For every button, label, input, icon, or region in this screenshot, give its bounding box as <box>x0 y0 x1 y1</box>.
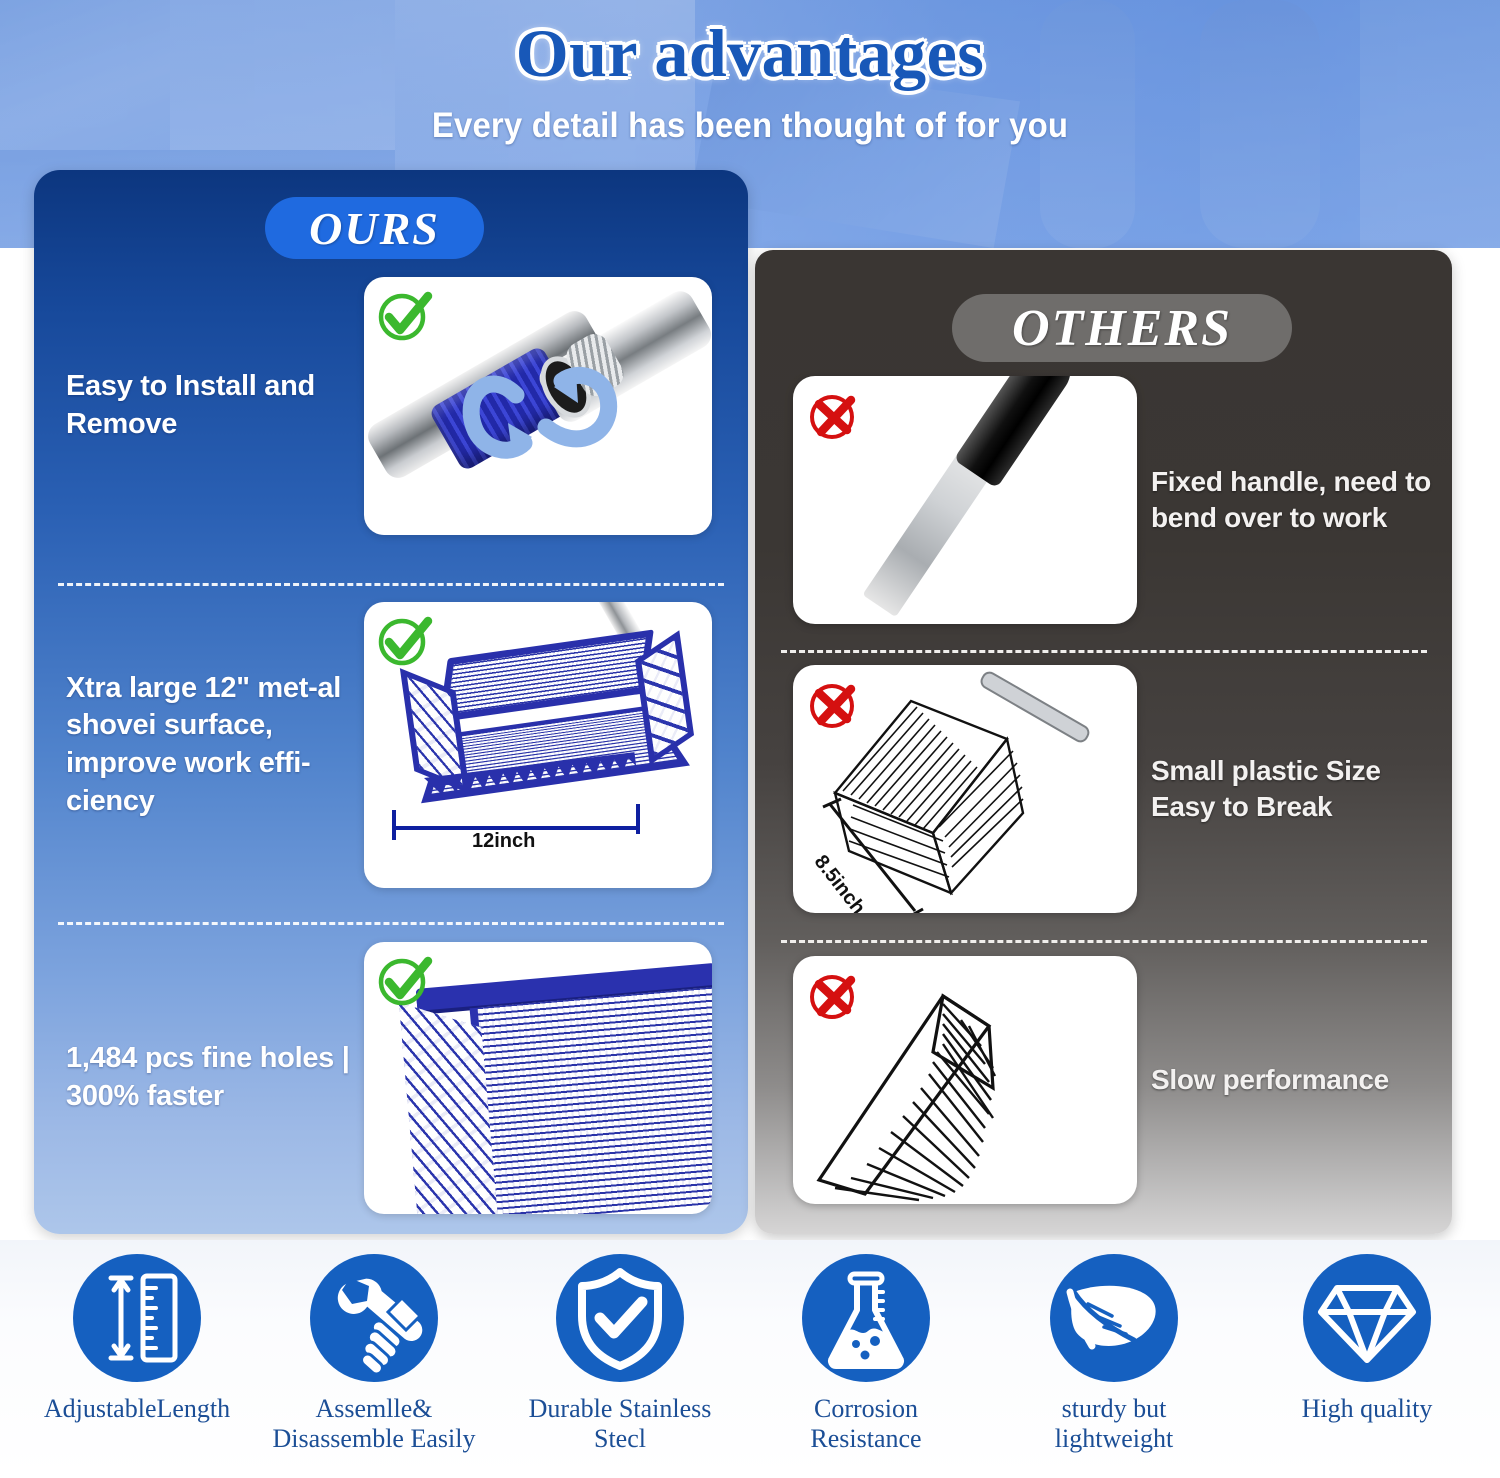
page-subtitle: Every detail has been thought of for you <box>45 106 1455 146</box>
ours-row-2-image: 12inch <box>364 602 712 888</box>
ours-panel: OURS Easy to Install and Remove <box>34 170 748 1234</box>
feature-sturdy-lightweight: sturdy but lightweight <box>999 1254 1229 1453</box>
others-divider-1 <box>781 650 1427 653</box>
green-check-icon <box>376 287 434 345</box>
green-check-icon <box>376 612 434 670</box>
ours-divider-1 <box>58 583 724 586</box>
ours-badge: OURS <box>265 197 484 259</box>
ours-row-3-image <box>364 942 712 1214</box>
feature-label: Corrosion Resistance <box>751 1394 981 1453</box>
feature-label: AdjustableLength <box>22 1394 252 1424</box>
feature-label: Durable Stainless Stecl <box>505 1394 735 1453</box>
others-row-2-text: Small plastic Size Easy to Break <box>1137 753 1437 826</box>
red-cross-icon <box>805 386 863 444</box>
ours-row-2: Xtra large 12" met-al shovei surface, im… <box>34 600 748 890</box>
ours-row-3-text: 1,484 pcs fine holes | 300% faster <box>34 1040 364 1115</box>
ours-row-1-text: Easy to Install and Remove <box>34 368 364 443</box>
feature-label: Assemlle& Disassemble Easily <box>259 1394 489 1453</box>
ours-row-2-text: Xtra large 12" met-al shovei surface, im… <box>34 670 364 821</box>
others-badge: OTHERS <box>952 294 1292 362</box>
feature-label: High quality <box>1252 1394 1482 1424</box>
ours-dimension-label: 12inch <box>472 830 535 853</box>
others-row-1-text: Fixed handle, need to bend over to work <box>1137 464 1437 537</box>
ruler-icon <box>73 1254 201 1382</box>
ours-divider-2 <box>58 922 724 925</box>
red-cross-icon <box>805 966 863 1024</box>
others-panel: OTHERS Fixed handle, need to bend over t… <box>755 250 1452 1234</box>
others-row-1-image <box>793 376 1137 624</box>
page-title: Our advantages <box>0 14 1500 93</box>
others-row-1: Fixed handle, need to bend over to work <box>755 375 1452 625</box>
others-row-2-image: 8.5inch <box>793 665 1137 913</box>
advantages-infographic: Our advantages Every detail has been tho… <box>0 0 1500 1478</box>
others-row-3-image <box>793 956 1137 1204</box>
others-row-3: Slow performance <box>755 955 1452 1205</box>
others-divider-2 <box>781 940 1427 943</box>
feature-durable-stainless-steel: Durable Stainless Stecl <box>505 1254 735 1453</box>
others-row-3-text: Slow performance <box>1137 1062 1437 1098</box>
feature-high-quality: High quality <box>1252 1254 1482 1424</box>
feature-strip: AdjustableLength Assemlle& Disassemble <box>0 1240 1500 1478</box>
feather-icon <box>1050 1254 1178 1382</box>
shield-check-icon <box>556 1254 684 1382</box>
others-badge-label: OTHERS <box>1012 299 1232 358</box>
ours-badge-label: OURS <box>309 202 440 255</box>
ours-row-3: 1,484 pcs fine holes | 300% faster <box>34 940 748 1216</box>
ours-row-1: Easy to Install and Remove <box>34 270 748 542</box>
ours-row-1-image <box>364 277 712 535</box>
diamond-icon <box>1303 1254 1431 1382</box>
feature-assemble-disassemble: Assemlle& Disassemble Easily <box>259 1254 489 1453</box>
others-row-2: 8.5inch Small plastic Size Easy to Break <box>755 665 1452 913</box>
feature-label: sturdy but lightweight <box>999 1394 1229 1453</box>
feature-adjustable-length: AdjustableLength <box>22 1254 252 1424</box>
red-cross-icon <box>805 675 863 733</box>
wrench-hand-icon <box>310 1254 438 1382</box>
green-check-icon <box>376 952 434 1010</box>
flask-icon <box>802 1254 930 1382</box>
feature-corrosion-resistance: Corrosion Resistance <box>751 1254 981 1453</box>
